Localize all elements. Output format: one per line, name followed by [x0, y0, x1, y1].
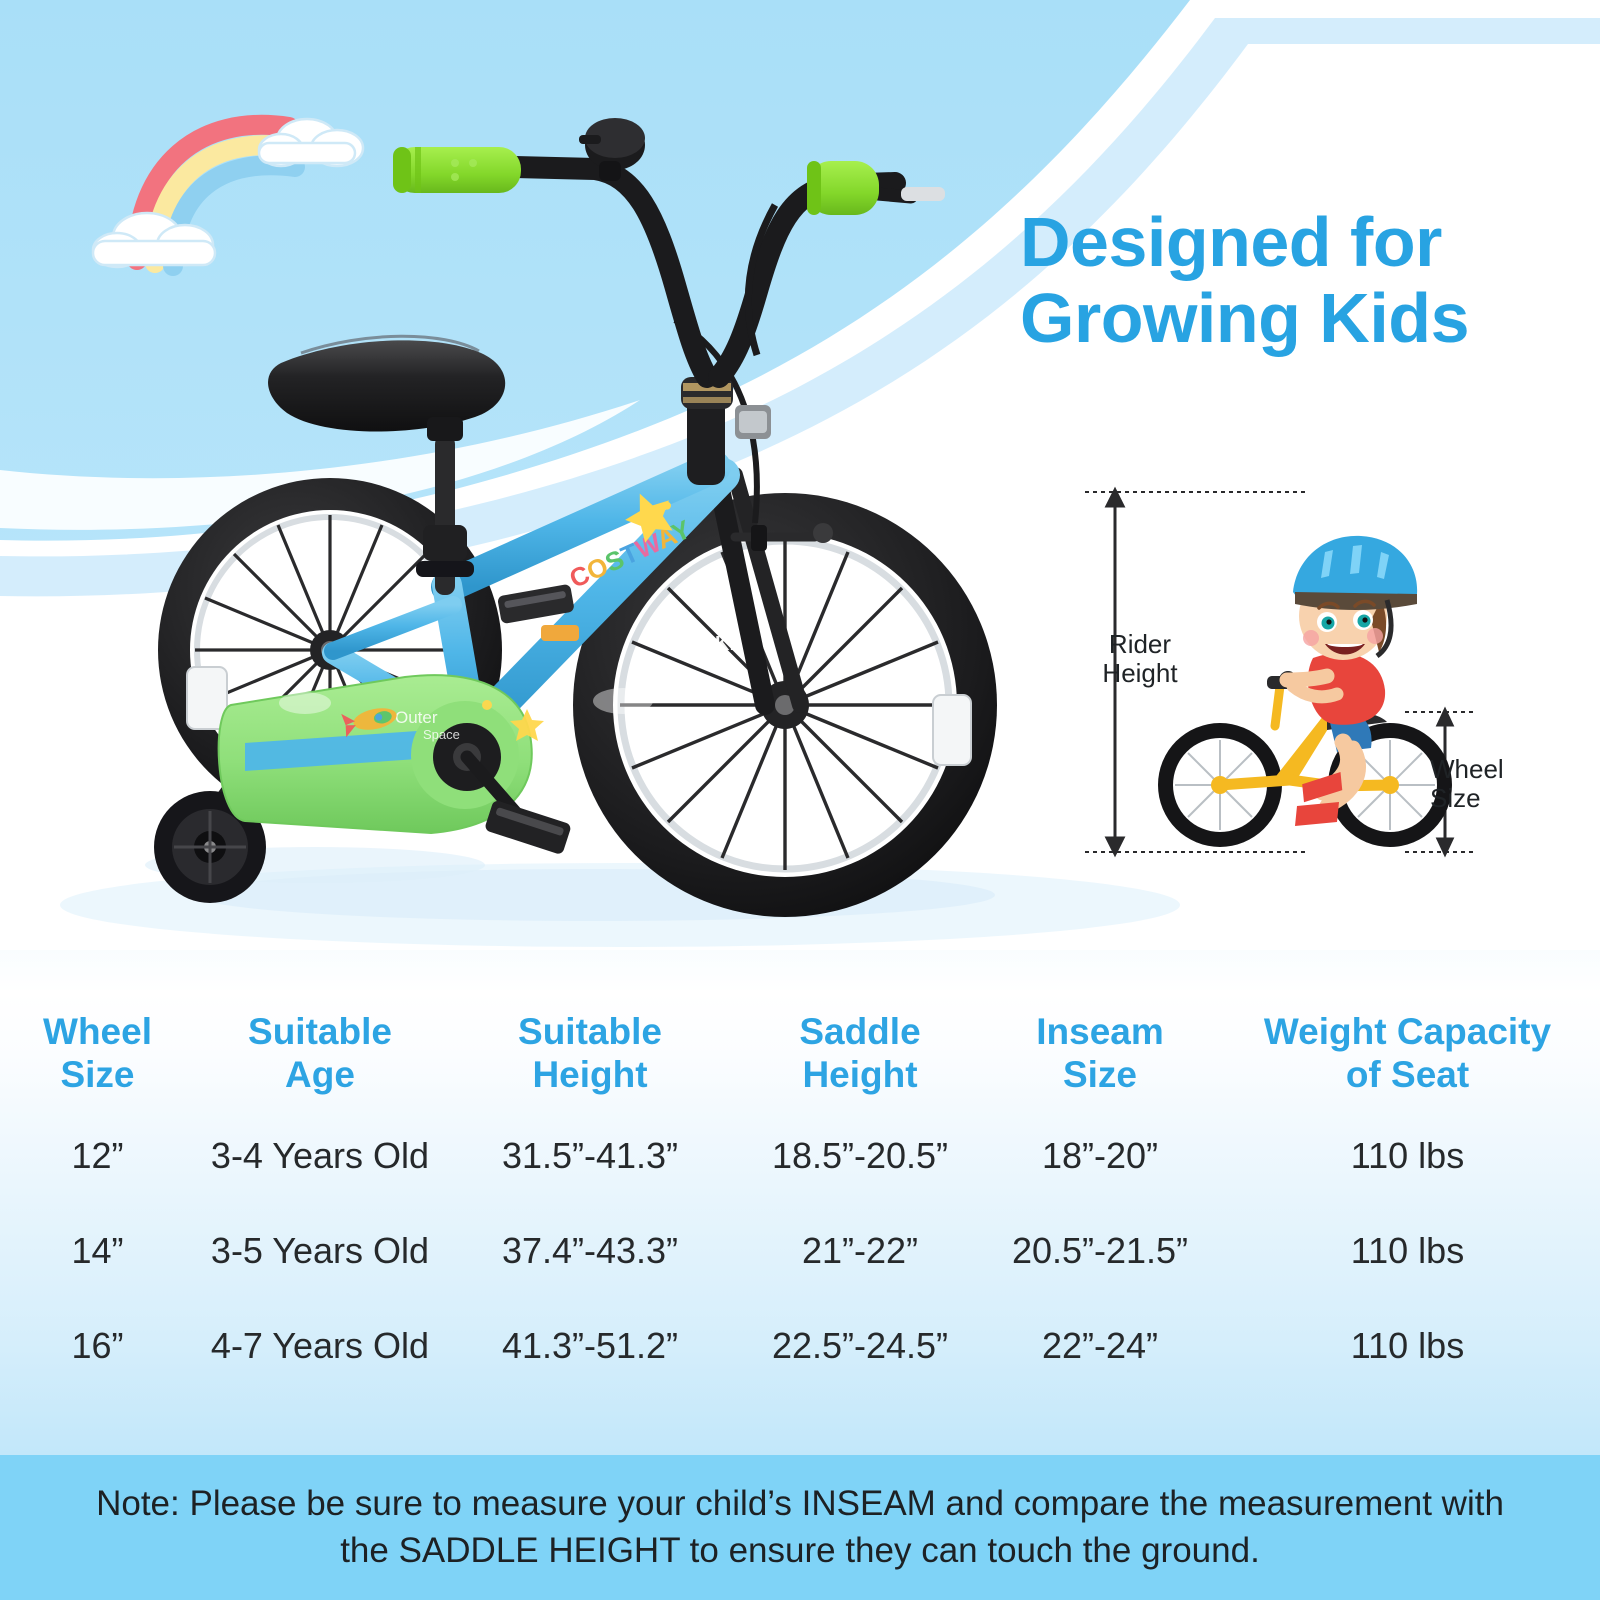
svg-text:Space: Space: [423, 727, 460, 742]
header-line-2: Age: [285, 1054, 355, 1095]
column-header-inseam-size: InseamSize: [985, 1000, 1215, 1108]
headline-line-2: Growing Kids: [1020, 281, 1580, 357]
wheel-size-line-2: Size: [1430, 783, 1481, 813]
header-line-2: Size: [1063, 1054, 1137, 1095]
header-line-1: Wheel: [43, 1011, 152, 1052]
note-text: Note: Please be sure to measure your chi…: [85, 1481, 1515, 1574]
column-header-wheel-size: WheelSize: [0, 1000, 195, 1108]
wheel-size-line-1: Wheel: [1430, 754, 1504, 784]
cell-weight-capacity: 110 lbs: [1215, 1108, 1600, 1203]
cell-suitable-age: 3-4 Years Old: [195, 1108, 445, 1203]
header-line-1: Inseam: [1036, 1011, 1164, 1052]
svg-text:Outer: Outer: [395, 708, 438, 727]
cell-suitable-height: 31.5”-41.3”: [445, 1108, 735, 1203]
cell-inseam-size: 22”-24”: [985, 1298, 1215, 1393]
cell-suitable-height: 41.3”-51.2”: [445, 1298, 735, 1393]
header-line-1: Saddle: [799, 1011, 920, 1052]
table-header-row: WheelSize SuitableAge SuitableHeight Sad…: [0, 1000, 1600, 1108]
table-row: 14” 3-5 Years Old 37.4”-43.3” 21”-22” 20…: [0, 1203, 1600, 1298]
headline-line-1: Designed for: [1020, 205, 1580, 281]
cell-weight-capacity: 110 lbs: [1215, 1203, 1600, 1298]
infographic-page: Kids: [0, 0, 1600, 1600]
cell-suitable-age: 4-7 Years Old: [195, 1298, 445, 1393]
header-line-2: Height: [802, 1054, 917, 1095]
cell-suitable-height: 37.4”-43.3”: [445, 1203, 735, 1298]
header-line-1: Weight Capacity: [1264, 1011, 1551, 1052]
cell-saddle-height: 18.5”-20.5”: [735, 1108, 985, 1203]
column-header-weight-capacity: Weight Capacityof Seat: [1215, 1000, 1600, 1108]
header-line-2: of Seat: [1346, 1054, 1469, 1095]
cell-wheel-size: 16”: [0, 1298, 195, 1393]
wheel-size-label: Wheel Size: [1430, 755, 1550, 813]
kids-bicycle-image: Kids: [75, 105, 1035, 935]
table-row: 12” 3-4 Years Old 31.5”-41.3” 18.5”-20.5…: [0, 1108, 1600, 1203]
specification-table: WheelSize SuitableAge SuitableHeight Sad…: [0, 1000, 1600, 1420]
rider-height-line-1: Rider: [1109, 629, 1171, 659]
rider-height-label: Rider Height: [1075, 630, 1205, 688]
header-line-2: Size: [60, 1054, 134, 1095]
header-line-1: Suitable: [518, 1011, 662, 1052]
cell-saddle-height: 22.5”-24.5”: [735, 1298, 985, 1393]
cell-wheel-size: 12”: [0, 1108, 195, 1203]
rider-height-line-2: Height: [1102, 658, 1177, 688]
header-line-2: Height: [532, 1054, 647, 1095]
cell-weight-capacity: 110 lbs: [1215, 1298, 1600, 1393]
cell-suitable-age: 3-5 Years Old: [195, 1203, 445, 1298]
cell-inseam-size: 20.5”-21.5”: [985, 1203, 1215, 1298]
handlebar-grip-right: [807, 161, 879, 215]
cell-inseam-size: 18”-20”: [985, 1108, 1215, 1203]
column-header-suitable-age: SuitableAge: [195, 1000, 445, 1108]
header-line-1: Suitable: [248, 1011, 392, 1052]
hero-section: Kids: [0, 0, 1600, 950]
handlebar-grip-left: [393, 147, 521, 193]
column-header-suitable-height: SuitableHeight: [445, 1000, 735, 1108]
page-title: Designed for Growing Kids: [1020, 205, 1580, 356]
handlebar: [393, 118, 945, 485]
cell-saddle-height: 21”-22”: [735, 1203, 985, 1298]
column-header-saddle-height: SaddleHeight: [735, 1000, 985, 1108]
child-rider-illustration: [1158, 536, 1452, 847]
cell-wheel-size: 14”: [0, 1203, 195, 1298]
table-row: 16” 4-7 Years Old 41.3”-51.2” 22.5”-24.5…: [0, 1298, 1600, 1393]
note-band: Note: Please be sure to measure your chi…: [0, 1455, 1600, 1600]
